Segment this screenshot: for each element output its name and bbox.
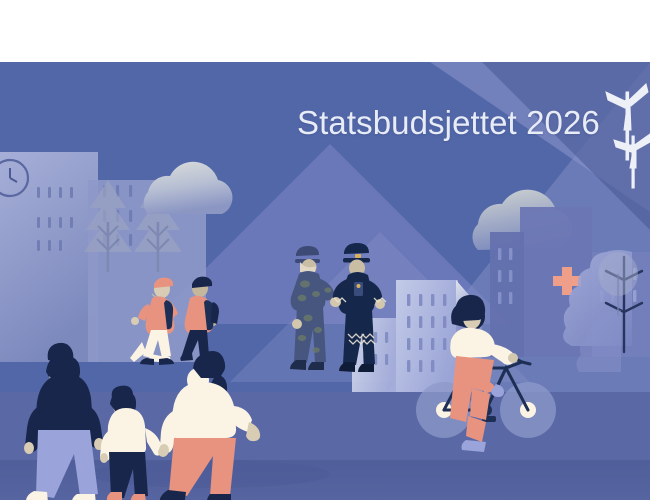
cyclist-shoe xyxy=(462,440,487,452)
office-tower xyxy=(396,280,458,400)
banner-page: Statsbudsjettet 2026 xyxy=(0,0,650,500)
page-title: Statsbudsjettet 2026 xyxy=(297,104,600,142)
top-white-band xyxy=(0,0,650,62)
